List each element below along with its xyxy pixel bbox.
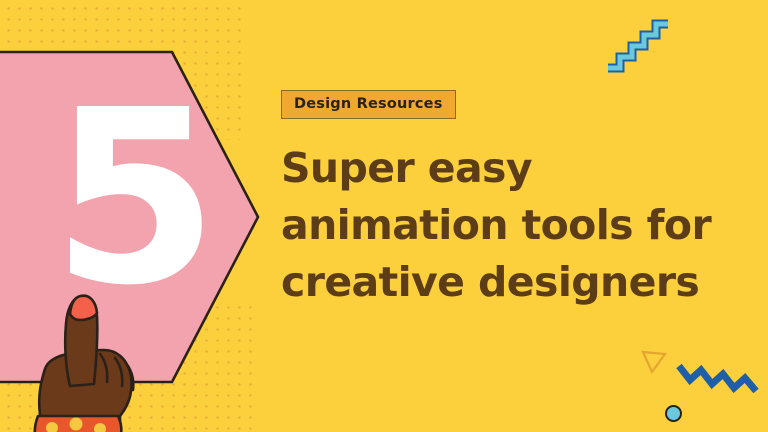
triangle-outline-icon bbox=[641, 349, 667, 375]
staircase-zigzag-icon bbox=[604, 18, 676, 76]
category-badge[interactable]: Design Resources bbox=[281, 90, 456, 119]
page-title: Super easy animation tools for creative … bbox=[281, 140, 733, 311]
wave-zigzag-icon bbox=[676, 358, 762, 402]
pointing-hand-illustration bbox=[8, 276, 158, 432]
slide-canvas: 5 bbox=[0, 0, 768, 432]
hand-nail bbox=[70, 296, 97, 320]
dot-circle-icon bbox=[665, 405, 682, 422]
text-content-block: Design Resources Super easy animation to… bbox=[281, 90, 741, 311]
